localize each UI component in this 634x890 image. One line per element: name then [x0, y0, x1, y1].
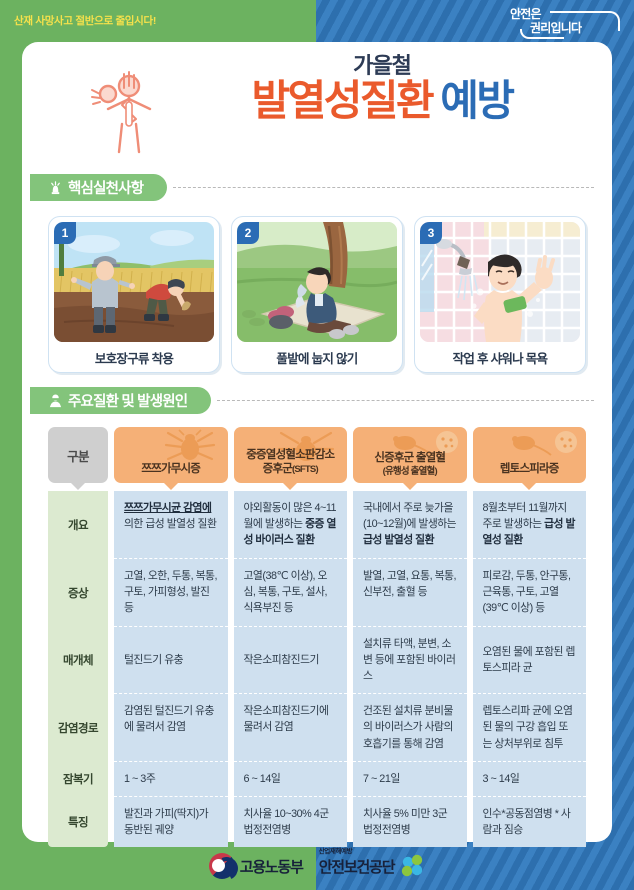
practice-card-1[interactable]: 1 보호장구류 착용	[48, 216, 220, 373]
table-row-incubation: 잠복기 1 ~ 3주 6 ~ 14일 7 ~ 21일 3 ~ 14일	[48, 762, 586, 797]
content-card: 가을철 발열성질환예방 핵심실천사항	[22, 42, 612, 842]
hero-text: 가을철 발열성질환예방	[172, 54, 592, 123]
siren-icon	[48, 180, 63, 195]
table-cell: 건조된 설치류 분비물의 바이러스가 사람의 호흡기를 통해 감염	[353, 694, 467, 762]
table-cell: 렙토스리파 균에 오염된 물의 구강 흡입 또는 상처부위로 침투	[473, 694, 587, 762]
table-cell: 치사율 5% 미만 3군 법정전염병	[353, 797, 467, 847]
ministry-logo: 고용노동부	[209, 853, 303, 879]
table-cell: 8월초부터 11월까지 주로 발생하는 급성 발열성 질환	[473, 491, 587, 559]
column-header-title-2-line2: 증후군(SFTS)	[246, 463, 334, 477]
feverish-person-icon	[86, 64, 160, 156]
practice-number-3: 3	[420, 222, 442, 244]
cell-bold: 급성 발열성 질환	[363, 534, 434, 546]
agency-name: 안전보건공단	[319, 856, 395, 877]
top-bar: 산재 사망사고 절반으로 줄입시다! 안전은 권리입니다	[0, 0, 634, 42]
practice-caption-3: 작업 후 샤워나 목욕	[420, 342, 580, 372]
practice-caption-2: 풀밭에 눕지 않기	[237, 342, 397, 372]
agency-logo: 산업재해예방 안전보건공단	[317, 854, 426, 878]
section-title-practices: 핵심실천사항	[68, 177, 143, 198]
table-cell: 털진드기 유충	[114, 627, 228, 695]
table-cell: 고열(38℃ 이상), 오심, 복통, 구토, 설사, 식욕부진 등	[234, 559, 348, 627]
table-cell: 국내에서 주로 늦가을 (10~12월)에 발생하는 급성 발열성 질환	[353, 491, 467, 559]
kosha-brand-logo: 안전은 권리입니다	[504, 4, 622, 38]
table-cell: 7 ~ 21일	[353, 762, 467, 797]
hero-title-block: 가을철 발열성질환예방	[22, 42, 612, 170]
table-row-symptoms: 증상 고열, 오한, 두통, 복통, 구토, 가피형성, 발진 등 고열(38℃…	[48, 559, 586, 627]
hero-headline-prevention: 예방	[440, 77, 512, 124]
section-header-practices: 핵심실천사항	[22, 172, 612, 202]
section-title-diseases: 주요질환 및 발생원인	[68, 390, 187, 411]
table-row-features: 특징 발진과 가피(딱지)가 동반된 궤양 치사율 10~30% 4군 법정전염…	[48, 797, 586, 847]
practice-number-1: 1	[54, 222, 76, 244]
column-header-title-2-line1: 중증열성혈소판감소	[246, 449, 334, 463]
table-cell: 치사율 10~30% 4군 법정전염병	[234, 797, 348, 847]
practice-caption-1: 보호장구류 착용	[54, 342, 214, 372]
table-cell: 3 ~ 14일	[473, 762, 587, 797]
column-header-title-3-line1: 신증후군 출열혈	[374, 452, 445, 466]
man-resting-on-mat-scene	[237, 222, 397, 342]
row-label-features: 특징	[48, 797, 108, 847]
pointer-tip	[70, 482, 86, 490]
farm-workers-protective-gear-scene	[54, 222, 214, 342]
taegeuk-icon	[209, 853, 235, 879]
cell-rest: 의한 급성 발열성 질환	[124, 518, 216, 530]
person-mask-icon	[48, 393, 63, 408]
table-cell: 야외활동이 많은 4~11월에 발생하는 중증 열성 바이러스 질환	[234, 491, 348, 559]
table-cell: 발진과 가피(딱지)가 동반된 궤양	[114, 797, 228, 847]
agency-tagline: 산업재해예방	[319, 845, 352, 855]
table-cell: 작은소피참진드기	[234, 627, 348, 695]
table-cell: 설치류 타액, 분변, 소변 등에 포함된 바이러스	[353, 627, 467, 695]
table-cell: 인수*공동점염병 * 사람과 짐승	[473, 797, 587, 847]
table-column-header-3: 신증후군 출열혈 (유행성 출열혈)	[353, 427, 467, 483]
practice-card-list: 1 보호장구류 착용	[22, 202, 612, 373]
table-column-header-4: 렙토스피라증	[473, 427, 587, 483]
section-major-diseases: 주요질환 및 발생원인 구분	[22, 385, 612, 847]
table-cell: 1 ~ 3주	[114, 762, 228, 797]
row-label-symptoms: 증상	[48, 559, 108, 627]
section-divider-practices	[173, 187, 594, 188]
section-header-diseases: 주요질환 및 발생원인	[22, 385, 612, 415]
table-cell: 쯔쯔가무시균 감염에 의한 급성 발열성 질환	[114, 491, 228, 559]
rodent-virus-icon	[508, 429, 582, 463]
table-corner-label-text: 구분	[67, 446, 89, 465]
practice-number-2: 2	[237, 222, 259, 244]
table-column-header-1: 쯔쯔가무시증	[114, 427, 228, 483]
table-cell: 오염된 물에 포함된 렙토스피라 균	[473, 627, 587, 695]
table-cell: 피로감, 두통, 안구통, 근육통, 구토, 고열 (39℃ 이상) 등	[473, 559, 587, 627]
column-header-title-1: 쯔쯔가무시증	[141, 463, 200, 477]
table-row-transmission: 감염경로 감염된 털진드기 유충에 물려서 감염 작은소피참진드기에 물려서 감…	[48, 694, 586, 762]
row-label-overview: 개요	[48, 491, 108, 559]
table-row-vector: 매개체 털진드기 유충 작은소피참진드기 설치류 타액, 분변, 소변 등에 포…	[48, 627, 586, 695]
hero-headline: 발열성질환예방	[172, 79, 592, 123]
cell-pre: 국내에서 주로 늦가을 (10~12월)에 발생하는	[363, 502, 456, 530]
column-header-title-3-sub: (유행성 출열혈)	[374, 466, 445, 477]
row-label-vector: 매개체	[48, 627, 108, 695]
hero-headline-disease: 발열성질환	[252, 77, 433, 124]
section-key-practices: 핵심실천사항	[22, 172, 612, 373]
kosha-clover-icon	[399, 854, 425, 878]
brand-logo-line2: 권리입니다	[530, 19, 581, 36]
table-cell: 작은소피참진드기에 물려서 감염	[234, 694, 348, 762]
practice-image-3: 3	[420, 222, 580, 342]
poster-background: 산재 사망사고 절반으로 줄입시다! 안전은 권리입니다	[0, 0, 634, 890]
pointer-tip	[282, 482, 298, 490]
section-pill-practices: 핵심실천사항	[30, 174, 167, 201]
hero-kicker: 가을철	[172, 54, 592, 78]
man-showering-scene	[420, 222, 580, 342]
table-cell: 고열, 오한, 두통, 복통, 구토, 가피형성, 발진 등	[114, 559, 228, 627]
tick-icon	[150, 429, 224, 463]
cell-lead: 쯔쯔가무시균 감염에	[124, 502, 211, 514]
table-cell: 발열, 고열, 요통, 복통, 신부전, 출혈 등	[353, 559, 467, 627]
practice-image-2: 2	[237, 222, 397, 342]
column-header-title-2: 중증열성혈소판감소 증후군(SFTS)	[246, 449, 334, 477]
disease-table: 구분 쯔쯔가무시증	[22, 415, 612, 847]
table-cell: 감염된 털진드기 유충에 물려서 감염	[114, 694, 228, 762]
row-label-transmission: 감염경로	[48, 694, 108, 762]
practice-card-2[interactable]: 2 풀밭에 눕지 않기	[231, 216, 403, 373]
footer-logos: 고용노동부 산업재해예방 안전보건공단	[0, 842, 634, 890]
pointer-tip	[521, 482, 537, 490]
table-column-header-2: 중증열성혈소판감소 증후군(SFTS)	[234, 427, 348, 483]
pointer-tip	[163, 482, 179, 490]
practice-image-1: 1	[54, 222, 214, 342]
table-corner-label: 구분	[48, 427, 108, 483]
ministry-name: 고용노동부	[240, 856, 303, 877]
table-row-overview: 개요 쯔쯔가무시균 감염에 의한 급성 발열성 질환 야외활동이 많은 4~11…	[48, 491, 586, 559]
practice-card-3[interactable]: 3 작업 후 샤워나 목욕	[414, 216, 586, 373]
table-cell: 6 ~ 14일	[234, 762, 348, 797]
campaign-slogan: 산재 사망사고 절반으로 줄입시다!	[14, 13, 156, 28]
section-pill-diseases: 주요질환 및 발생원인	[30, 387, 211, 414]
column-header-title-4: 렙토스피라증	[500, 463, 559, 477]
column-header-title-3: 신증후군 출열혈 (유행성 출열혈)	[374, 452, 445, 477]
section-divider-diseases	[217, 400, 594, 401]
row-label-incubation: 잠복기	[48, 762, 108, 797]
table-header-row: 구분 쯔쯔가무시증	[48, 427, 586, 483]
pointer-tip	[402, 482, 418, 490]
